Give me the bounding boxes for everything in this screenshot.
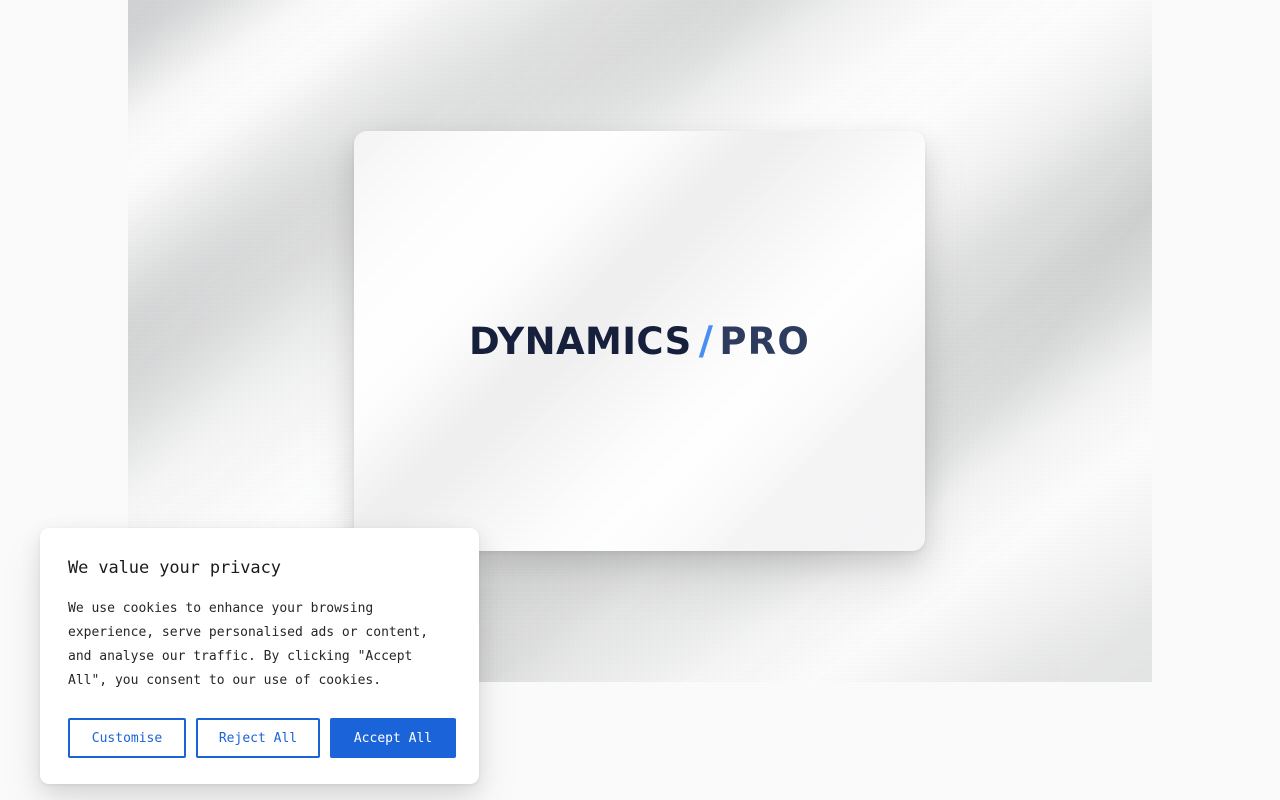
brand-logo-separator: / <box>699 319 714 364</box>
cookie-consent-banner: We value your privacy We use cookies to … <box>40 528 479 784</box>
cookie-banner-description: We use cookies to enhance your browsing … <box>68 597 446 693</box>
brand-logo-mark: DYNAMICS <box>469 320 692 363</box>
accept-all-button[interactable]: Accept All <box>330 718 456 758</box>
brand-logo-sub: PRO <box>719 320 810 363</box>
cookie-banner-actions: Customise Reject All Accept All <box>68 718 451 758</box>
cookie-banner-title: We value your privacy <box>68 558 451 578</box>
product-card: DYNAMICS / PRO <box>354 131 925 551</box>
customise-button[interactable]: Customise <box>68 718 186 758</box>
brand-logo: DYNAMICS / PRO <box>469 319 810 364</box>
reject-all-button[interactable]: Reject All <box>196 718 320 758</box>
